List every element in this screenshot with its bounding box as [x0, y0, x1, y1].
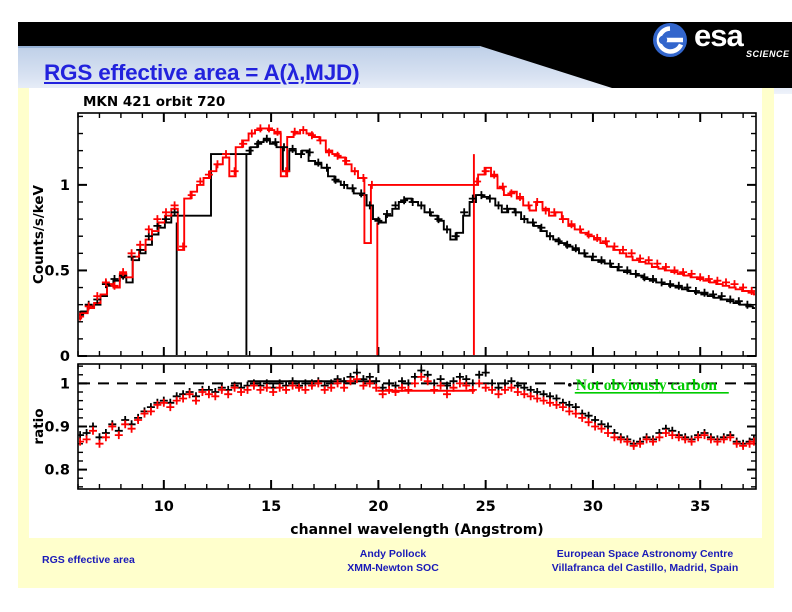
- footer-institution-address: Villafranca del Castillo, Madrid, Spain: [510, 561, 780, 575]
- right-margin-strip: [762, 88, 774, 538]
- x-tick-label: 10: [154, 499, 174, 515]
- y-tick-label: 0.9: [44, 420, 70, 436]
- slide-footer: RGS effective area Andy Pollock XMM-Newt…: [18, 538, 774, 588]
- annotation-bullet: [568, 383, 572, 387]
- x-tick-label: 35: [690, 499, 710, 515]
- y-axis-label-counts: Counts/s/keV: [31, 184, 47, 284]
- y-tick-label: 1: [60, 376, 70, 392]
- esa-wordmark: esa: [694, 18, 743, 54]
- annotation-label: Not obviously carbon: [576, 377, 718, 394]
- x-tick-label: 30: [583, 499, 603, 515]
- slide-canvas: RGS effective area = A(λ,MJD) esa SCIENC…: [0, 0, 792, 612]
- y-tick-label: 0.5: [44, 263, 70, 279]
- footer-author-org: XMM-Newton SOC: [318, 561, 468, 575]
- y-tick-label: 0.8: [44, 463, 70, 479]
- footer-institution-name: European Space Astronomy Centre: [510, 547, 780, 561]
- x-tick-label: 20: [368, 499, 388, 515]
- chart-title: MKN 421 orbit 720: [83, 94, 225, 110]
- annotation-0: Not obviously carbon: [568, 377, 729, 394]
- plot-frame: [78, 113, 756, 356]
- spectrum-chart: MKN 421 orbit 72000.511015202530350.80.9…: [29, 88, 762, 538]
- x-tick-label: 25: [476, 499, 496, 515]
- y-axis-label-ratio: ratio: [31, 408, 47, 444]
- y-tick-label: 0: [60, 349, 70, 365]
- slide-header: RGS effective area = A(λ,MJD) esa SCIENC…: [0, 0, 792, 100]
- esa-logo: esa SCIENCE: [650, 22, 780, 70]
- footer-subject: RGS effective area: [42, 553, 135, 567]
- x-tick-label: 15: [261, 499, 281, 515]
- footer-institution: European Space Astronomy Centre Villafra…: [510, 547, 780, 575]
- x-axis-label: channel wavelength (Angstrom): [290, 522, 543, 538]
- footer-author: Andy Pollock XMM-Newton SOC: [318, 547, 468, 575]
- page-title: RGS effective area = A(λ,MJD): [44, 60, 359, 86]
- y-tick-label: 1: [60, 178, 70, 194]
- footer-author-name: Andy Pollock: [318, 547, 468, 561]
- left-margin-strip: [18, 88, 29, 538]
- esa-tagline: SCIENCE: [746, 49, 790, 59]
